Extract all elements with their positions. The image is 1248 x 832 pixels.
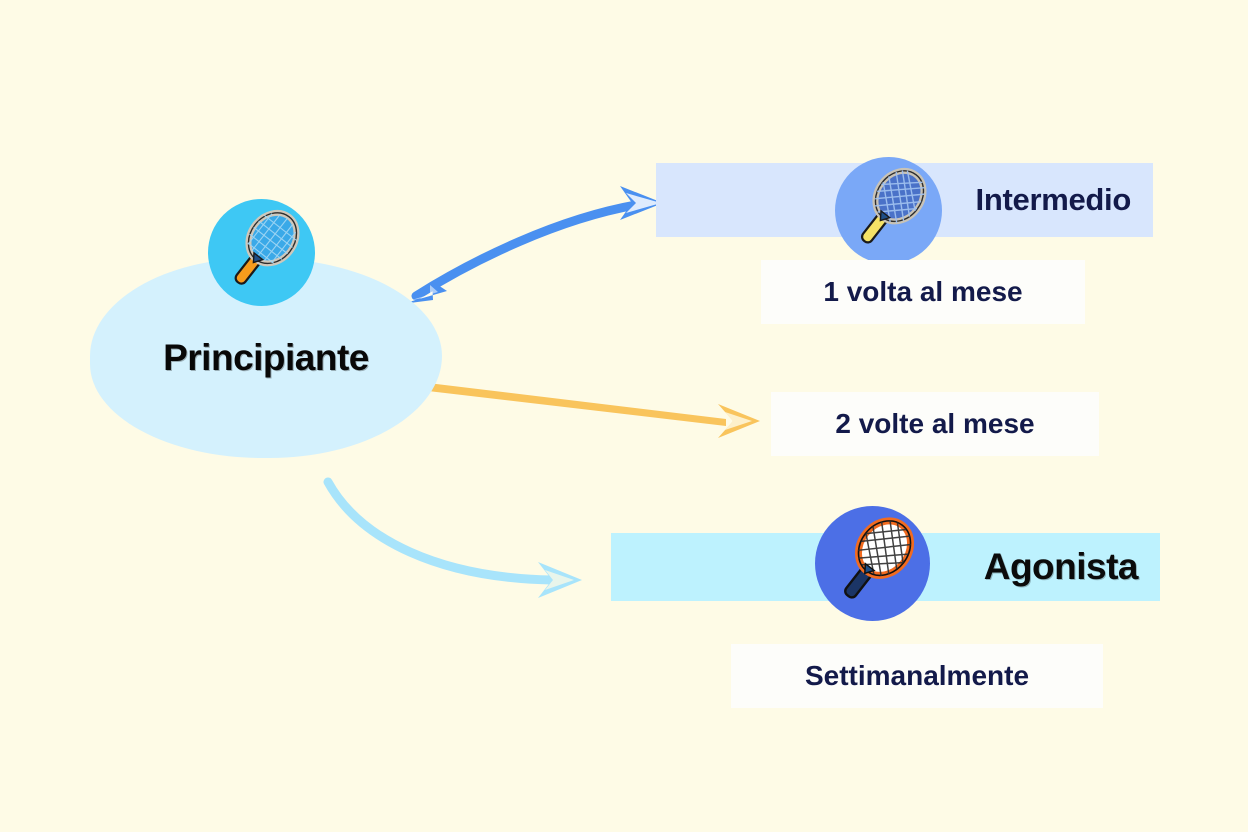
- tennis-racket-icon: [815, 506, 930, 621]
- diagram-canvas: Principiante: [0, 0, 1248, 832]
- frequency-card-due-volte[interactable]: 2 volte al mese: [771, 392, 1099, 456]
- connector-to-agonista: [328, 482, 582, 598]
- frequency-card-agonista-label: Settimanalmente: [805, 660, 1029, 692]
- frequency-card-due-volte-label: 2 volte al mese: [835, 408, 1034, 440]
- frequency-card-agonista[interactable]: Settimanalmente: [731, 644, 1103, 708]
- level-bar-intermedio-label: Intermedio: [976, 182, 1153, 218]
- frequency-card-intermedio[interactable]: 1 volta al mese: [761, 260, 1085, 324]
- connector-to-due-volte: [428, 383, 760, 438]
- frequency-card-intermedio-label: 1 volta al mese: [823, 276, 1022, 308]
- tennis-racket-icon: [208, 199, 315, 306]
- level-bar-agonista-label: Agonista: [984, 546, 1160, 588]
- tennis-racket-icon: [835, 157, 942, 264]
